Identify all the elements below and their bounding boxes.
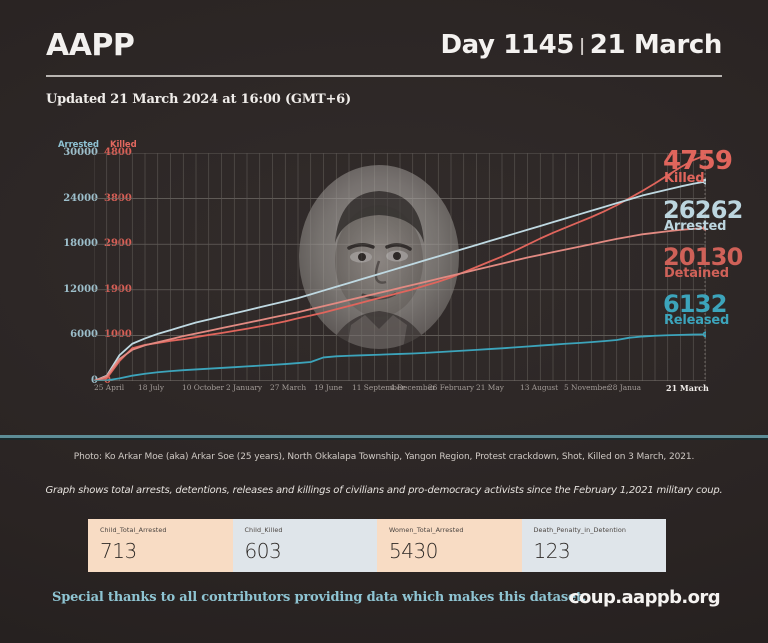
header-rule bbox=[46, 75, 722, 77]
day-count-label: Day 1145 bbox=[440, 30, 574, 60]
stat-value-2: 5430 bbox=[389, 539, 522, 563]
x-tick-2: 10 October bbox=[182, 383, 224, 392]
x-tick-5: 19 June bbox=[314, 383, 343, 392]
y-tick-left-24000: 24000 bbox=[46, 193, 98, 204]
brand-title: AAPP bbox=[46, 28, 134, 63]
stat-label-1: Child_Killed bbox=[245, 526, 378, 534]
y-tick-left-12000: 12000 bbox=[46, 284, 98, 295]
y-tick-left-0: 0 bbox=[46, 375, 98, 386]
stat-label-3: Death_Penalty_in_Detention bbox=[534, 526, 667, 534]
stat-value-3: 123 bbox=[534, 539, 667, 563]
series-endpoint-dot-released bbox=[703, 331, 706, 337]
stat-box-1[interactable]: Child_Killed603 bbox=[233, 519, 378, 572]
x-tick-3: 2 January bbox=[226, 383, 262, 392]
endpoint-name-released: Released bbox=[664, 314, 729, 327]
y-tick-left-30000: 30000 bbox=[46, 147, 98, 158]
section-divider-shadow bbox=[0, 438, 768, 440]
y-tick-left-6000: 6000 bbox=[46, 329, 98, 340]
stat-value-1: 603 bbox=[245, 539, 378, 563]
stat-label-2: Women_Total_Arrested bbox=[389, 526, 522, 534]
graph-note: Graph shows total arrests, detentions, r… bbox=[0, 485, 768, 496]
x-tick-11: 5 November bbox=[564, 383, 610, 392]
footer-thanks: Special thanks to all contributors provi… bbox=[52, 590, 586, 605]
title-separator: | bbox=[574, 36, 590, 56]
stat-label-0: Child_Total_Arrested bbox=[100, 526, 233, 534]
y-tick-left-18000: 18000 bbox=[46, 238, 98, 249]
x-tick-13: 21 March bbox=[666, 383, 709, 393]
header: AAPP Day 1145|21 March bbox=[46, 28, 722, 88]
day-title: Day 1145|21 March bbox=[440, 30, 722, 60]
footer-url[interactable]: coup.aappb.org bbox=[569, 587, 720, 608]
stat-boxes: Child_Total_Arrested713Child_Killed603Wo… bbox=[88, 519, 666, 572]
endpoint-name-arrested: Arrested bbox=[664, 220, 726, 233]
chart: Arrested Killed 060001200018000240003000… bbox=[46, 140, 726, 405]
stat-box-3[interactable]: Death_Penalty_in_Detention123 bbox=[522, 519, 667, 572]
endpoint-name-detained: Detained bbox=[664, 267, 729, 280]
photo-caption: Photo: Ko Arkar Moe (aka) Arkar Soe (25 … bbox=[0, 452, 768, 462]
x-tick-10: 13 August bbox=[520, 383, 558, 392]
stat-box-2[interactable]: Women_Total_Arrested5430 bbox=[377, 519, 522, 572]
x-tick-12: 28 Janua bbox=[608, 383, 641, 392]
x-tick-4: 27 March bbox=[270, 383, 306, 392]
endpoint-name-killed: Killed bbox=[664, 172, 704, 185]
plot-area bbox=[94, 153, 706, 381]
chart-svg bbox=[94, 153, 706, 381]
x-tick-8: 26 February bbox=[428, 383, 474, 392]
updated-timestamp: Updated 21 March 2024 at 16:00 (GMT+6) bbox=[46, 92, 351, 107]
x-tick-0: 25 April bbox=[94, 383, 124, 392]
stat-box-0[interactable]: Child_Total_Arrested713 bbox=[88, 519, 233, 572]
day-date-label: 21 March bbox=[590, 30, 722, 60]
x-tick-9: 21 May bbox=[476, 383, 504, 392]
stat-value-0: 713 bbox=[100, 539, 233, 563]
x-tick-1: 18 July bbox=[138, 383, 164, 392]
